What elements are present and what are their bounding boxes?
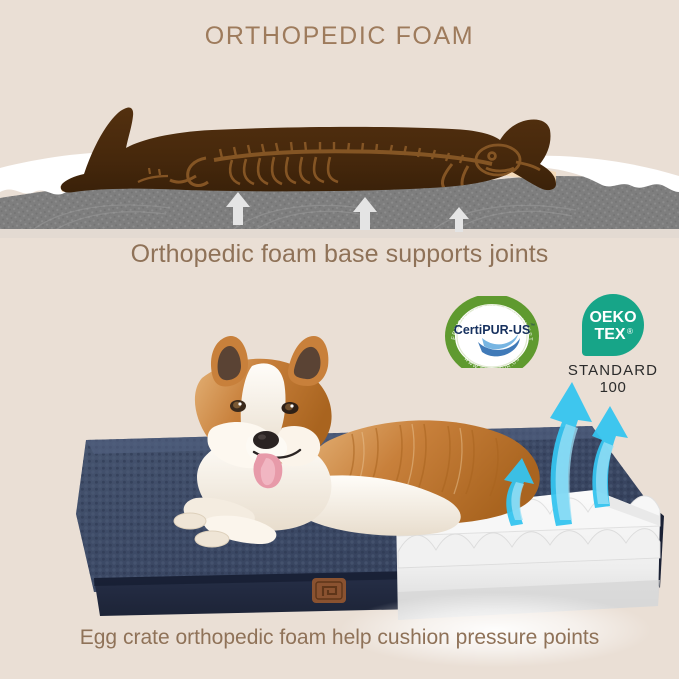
orthopedic-support-diagram	[0, 80, 679, 238]
dog	[174, 336, 540, 547]
svg-text:™: ™	[530, 323, 535, 329]
dog-silhouette-shape	[61, 108, 556, 193]
svg-text:OEKO: OEKO	[589, 309, 636, 326]
page-title: ORTHOPEDIC FOAM	[0, 22, 679, 51]
product-feature-image: ORTHOPEDIC FOAM	[0, 0, 679, 679]
diagram-caption: Orthopedic foam base supports joints	[0, 240, 679, 269]
product-photo-scene	[0, 330, 679, 620]
brand-logo-patch	[312, 578, 346, 603]
scene-caption: Egg crate orthopedic foam help cushion p…	[0, 626, 679, 650]
